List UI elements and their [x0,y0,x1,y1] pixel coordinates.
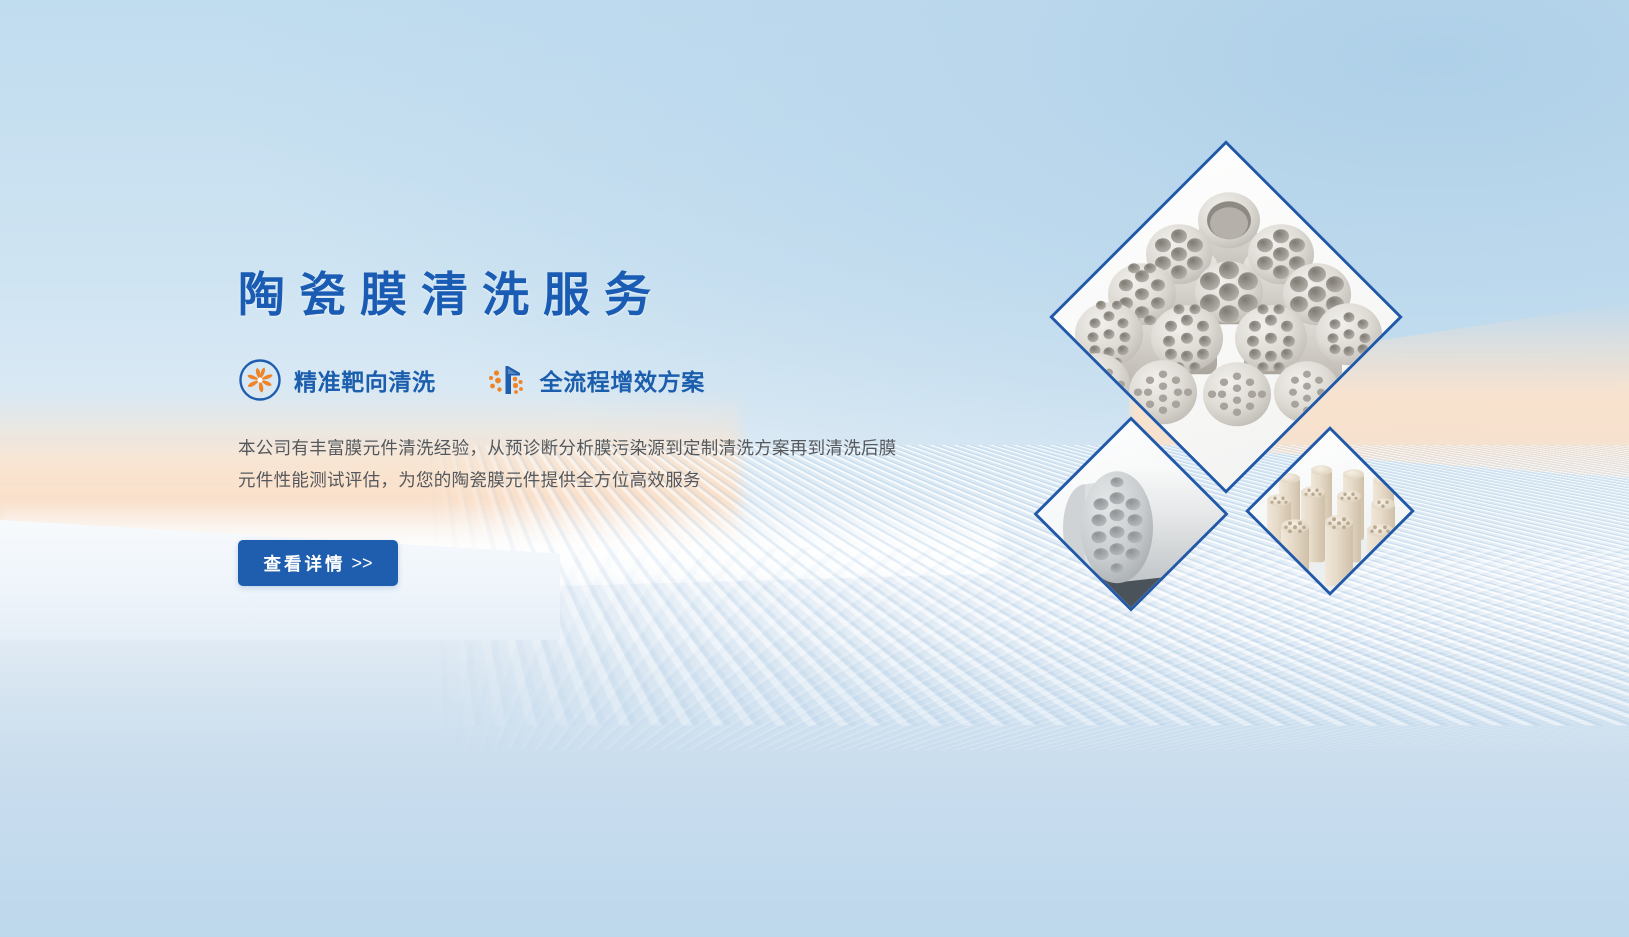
page-title: 陶瓷膜清洗服务 [238,268,665,322]
product-image-ceramic-membrane-tubes [1245,426,1415,596]
feature-label: 全流程增效方案 [540,363,705,397]
hero-banner: 陶瓷膜清洗服务 [0,0,1629,937]
chevron-right-icon: >> [351,553,372,574]
feature-item-precision-targeted-cleaning: 精准靶向清洗 [238,358,436,402]
ceramic-membrane-tubes-photo [1245,430,1415,596]
feature-label: 精准靶向清洗 [294,363,436,397]
view-details-button[interactable]: 查看详情 >> [238,540,398,586]
feature-item-full-process-efficiency-plan: 全流程增效方案 [484,358,705,402]
view-details-label: 查看详情 [263,551,345,576]
hero-content: 陶瓷膜清洗服务 [238,0,1138,937]
feature-list: 精准靶向清洗 [238,358,705,402]
hero-description: 本公司有丰富膜元件清洗经验，从预诊断分析膜污染源到定制清洗方案再到清洗后膜元件性… [238,432,903,496]
flag-dots-icon [484,358,528,402]
pinwheel-icon [238,358,282,402]
